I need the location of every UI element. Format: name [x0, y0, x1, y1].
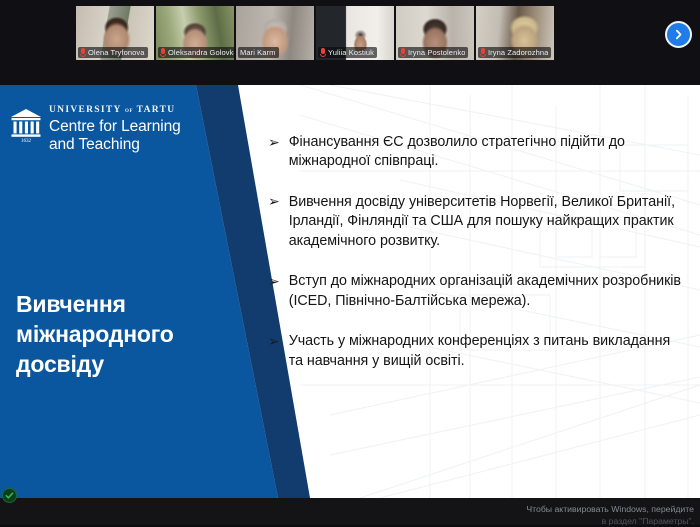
bullet-text: Участь у міжнародних конференціях з пита… — [289, 332, 688, 371]
university-branding: 1632 UNIVERSITY of TARTU Centre for Lear… — [10, 105, 181, 155]
bullet-item: ➢ Фінансування ЄС дозволило стратегічно … — [268, 133, 688, 172]
mic-muted-icon — [480, 48, 486, 57]
bullet-text: Вступ до міжнародних організацій академі… — [289, 272, 688, 311]
participant-name: Mari Karm — [240, 48, 276, 57]
participant-name: Iryna Postolenko — [408, 48, 465, 57]
bullet-item: ➢ Вивчення досвіду університетів Норвегі… — [268, 193, 688, 251]
windows-activation-line-1: Чтобы активировать Windows, перейдите — [526, 504, 694, 516]
logo-year: 1632 — [21, 138, 32, 144]
participant-tile-list: Olena Tryfonova Oleksandra Golovko Mari … — [76, 6, 554, 60]
participant-name: Oleksandra Golovko — [168, 48, 234, 57]
mic-muted-icon — [400, 48, 406, 57]
participant-name-badge: Yuliia Kostiuk — [318, 47, 377, 58]
bullet-arrow-icon: ➢ — [268, 192, 280, 211]
bullet-item: ➢ Участь у міжнародних конференціях з пи… — [268, 332, 688, 371]
centre-name: Centre for Learning and Teaching — [49, 118, 181, 155]
windows-activation-line-2: в раздел "Параметры". — [526, 516, 694, 527]
brand-text-block: UNIVERSITY of TARTU Centre for Learning … — [49, 105, 181, 155]
participant-name-badge: Oleksandra Golovko — [158, 47, 234, 58]
bottom-bar: Чтобы активировать Windows, перейдите в … — [0, 498, 700, 525]
participant-name-badge: Olena Tryfonova — [78, 47, 148, 58]
participant-name: Yuliia Kostiuk — [328, 48, 374, 57]
bullet-arrow-icon: ➢ — [268, 332, 280, 351]
participant-tile[interactable]: Yuliia Kostiuk — [316, 6, 394, 60]
centre-name-line-2: and Teaching — [49, 136, 181, 154]
participant-tile-active-speaker[interactable]: Mari Karm — [236, 6, 314, 60]
mic-muted-icon — [160, 48, 166, 57]
bullet-text: Фінансування ЄС дозволило стратегічно пі… — [289, 133, 688, 172]
shared-slide: 1632 UNIVERSITY of TARTU Centre for Lear… — [0, 85, 700, 498]
chevron-right-icon[interactable] — [665, 21, 692, 48]
bullet-text: Вивчення досвіду університетів Норвегії,… — [289, 193, 688, 251]
bullet-arrow-icon: ➢ — [268, 133, 280, 152]
bullet-arrow-icon: ➢ — [268, 272, 280, 291]
participant-name-badge: Iryna Postolenko — [398, 47, 468, 58]
bullet-item: ➢ Вступ до міжнародних організацій акаде… — [268, 272, 688, 311]
slide-title: Вивчення міжнародного досвіду — [16, 290, 221, 380]
participant-filmstrip: Olena Tryfonova Oleksandra Golovko Mari … — [0, 0, 700, 85]
participant-name-badge: Iryna Zadorozhna — [478, 47, 551, 58]
windows-activation-watermark: Чтобы активировать Windows, перейдите в … — [526, 504, 694, 527]
mic-muted-icon — [320, 48, 326, 57]
participant-tile[interactable]: Oleksandra Golovko — [156, 6, 234, 60]
recording-indicator-icon[interactable] — [2, 488, 17, 503]
centre-name-line-1: Centre for Learning — [49, 118, 181, 136]
university-name: UNIVERSITY of TARTU — [49, 105, 181, 115]
university-building-icon: 1632 — [10, 108, 42, 144]
participant-name: Olena Tryfonova — [88, 48, 145, 57]
participant-name-badge: Mari Karm — [238, 47, 279, 58]
slide-bullet-list: ➢ Фінансування ЄС дозволило стратегічно … — [268, 133, 688, 392]
participant-tile[interactable]: Iryna Postolenko — [396, 6, 474, 60]
participant-tile[interactable]: Iryna Zadorozhna — [476, 6, 554, 60]
mic-muted-icon — [80, 48, 86, 57]
participant-tile[interactable]: Olena Tryfonova — [76, 6, 154, 60]
zoom-meeting-window: Olena Tryfonova Oleksandra Golovko Mari … — [0, 0, 700, 525]
participant-name: Iryna Zadorozhna — [488, 48, 548, 57]
